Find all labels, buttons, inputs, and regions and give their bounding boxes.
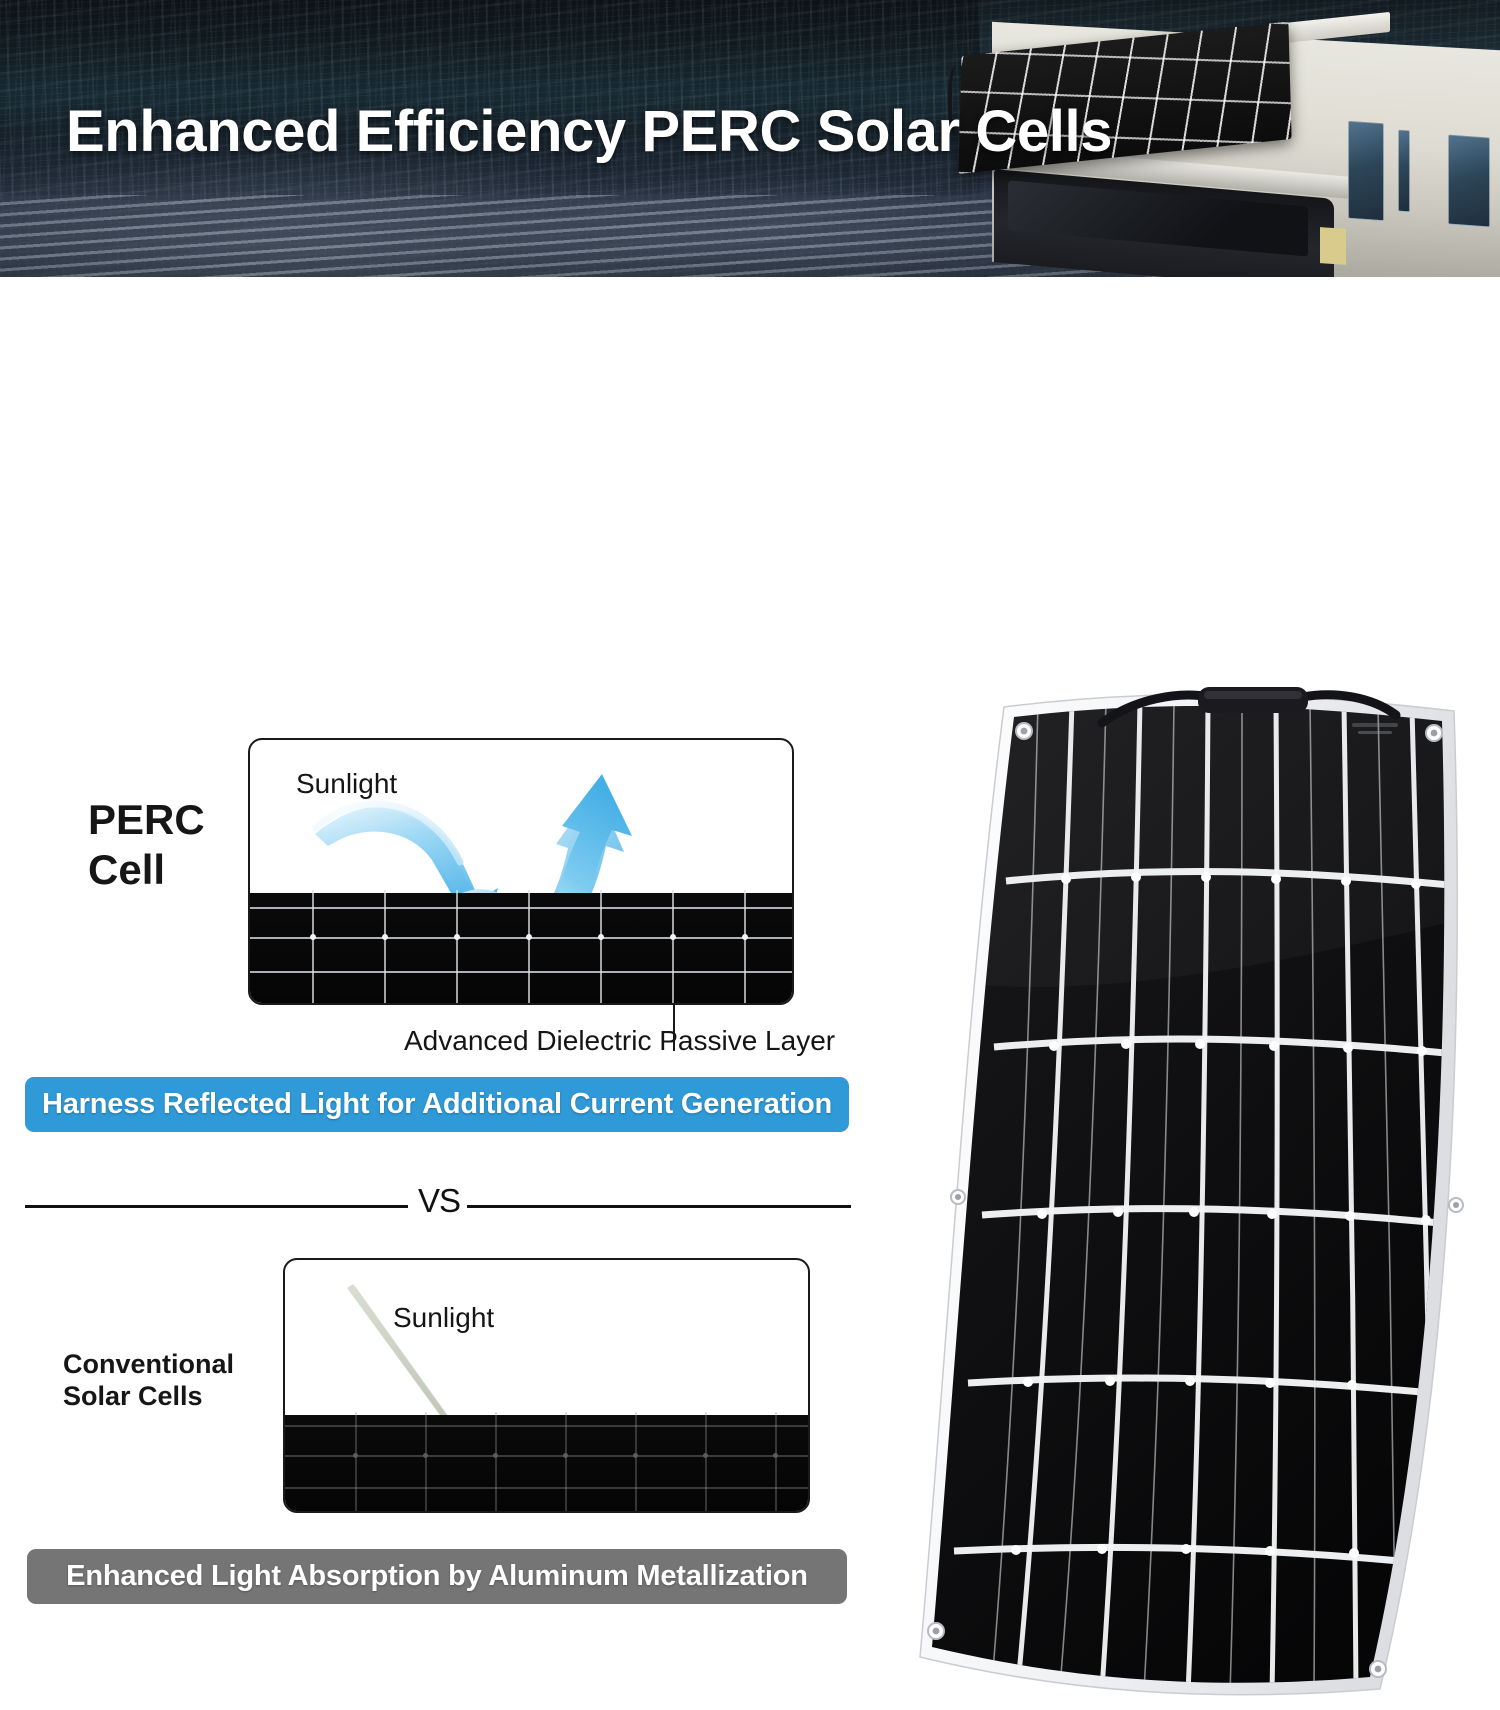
dielectric-callout-label: Advanced Dielectric Passive Layer — [404, 1025, 835, 1057]
conventional-cell-substrate — [285, 1415, 808, 1511]
perc-cell-substrate — [250, 893, 792, 1003]
page-title: Enhanced Efficiency PERC Solar Cells — [66, 98, 1112, 165]
comparison-column: PERC Cell Sunlight — [0, 277, 870, 1433]
hero-banner: Enhanced Efficiency PERC Solar Cells — [0, 0, 1500, 277]
perc-cell-diagram: Sunlight — [248, 738, 794, 1005]
vs-divider: VS — [25, 1174, 851, 1234]
conventional-cell-label: Conventional Solar Cells — [63, 1349, 234, 1413]
rv-window-3 — [1448, 135, 1490, 228]
main-content: PERC Cell Sunlight — [0, 277, 1500, 1433]
conventional-label-line2: Solar Cells — [63, 1381, 234, 1413]
rv-window-2 — [1398, 130, 1410, 213]
vs-rule-left — [25, 1205, 408, 1208]
rv-windshield — [1008, 180, 1308, 256]
perc-benefit-banner: Harness Reflected Light for Additional C… — [25, 1077, 849, 1132]
product-panel-image — [866, 675, 1500, 1710]
perc-label-line1: PERC — [88, 795, 205, 845]
perc-label-line2: Cell — [88, 845, 205, 895]
rv-amber-panel — [1320, 227, 1346, 265]
vs-label: VS — [414, 1182, 464, 1220]
conventional-label-line1: Conventional — [63, 1349, 234, 1381]
vs-rule-right — [467, 1205, 851, 1208]
perc-cell-label: PERC Cell — [88, 795, 205, 894]
rv-window-1 — [1348, 121, 1384, 222]
conventional-cell-diagram: Sunlight — [283, 1258, 810, 1513]
conventional-benefit-banner: Enhanced Light Absorption by Aluminum Me… — [27, 1549, 847, 1604]
flexible-solar-panel-svg — [866, 675, 1500, 1710]
